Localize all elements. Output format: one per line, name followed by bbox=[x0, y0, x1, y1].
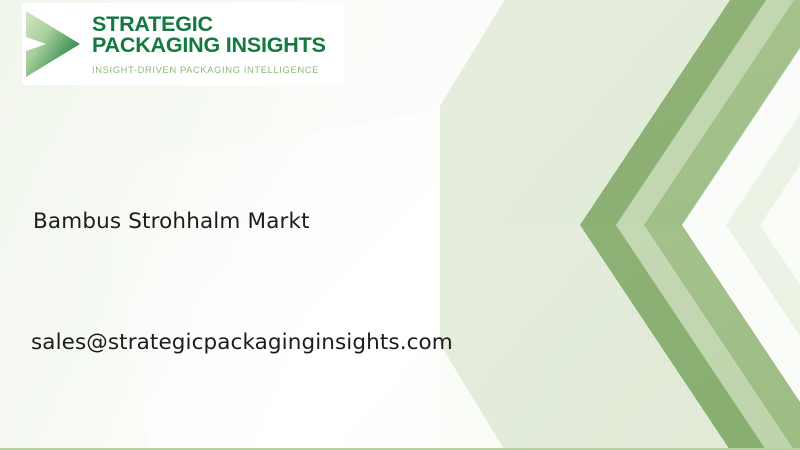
logo-tagline: INSIGHT-DRIVEN PACKAGING INTELLIGENCE bbox=[92, 64, 326, 75]
logo-name-line-1: STRATEGIC bbox=[92, 14, 326, 35]
chevron-stripes-svg bbox=[440, 0, 800, 450]
company-logo: STRATEGIC PACKAGING INSIGHTS INSIGHT-DRI… bbox=[22, 3, 345, 85]
slide-title: Bambus Strohhalm Markt bbox=[33, 209, 310, 234]
logo-name-line-2: PACKAGING INSIGHTS bbox=[92, 35, 326, 56]
contact-email: sales@strategicpackaginginsights.com bbox=[31, 330, 453, 355]
logo-wordmark: STRATEGIC PACKAGING INSIGHTS INSIGHT-DRI… bbox=[92, 14, 326, 75]
chevron-right-gradient-icon bbox=[22, 7, 84, 81]
chevron-stripes-decoration bbox=[440, 0, 800, 450]
presentation-slide: STRATEGIC PACKAGING INSIGHTS INSIGHT-DRI… bbox=[0, 0, 800, 450]
